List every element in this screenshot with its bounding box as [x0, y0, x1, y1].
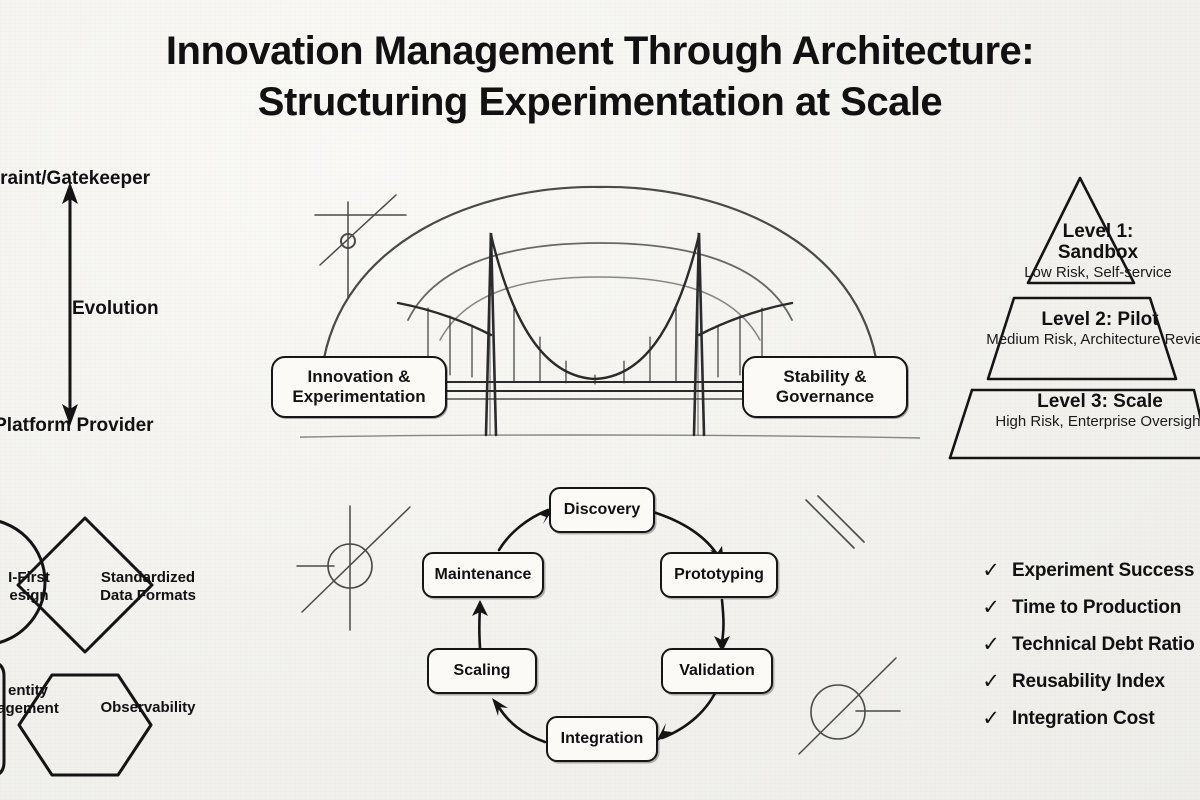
- evolution-axis: onstraint/Gatekeeper Evolution bler/Plat…: [0, 160, 220, 460]
- title-line-2: Structuring Experimentation at Scale: [0, 77, 1200, 128]
- cycle-node-validation-label: Validation: [679, 662, 755, 680]
- cycle-node-validation[interactable]: Validation: [661, 648, 773, 694]
- pyramid-level-2-title: Level 2: Pilot: [985, 310, 1200, 331]
- crosshair-circle-icon: [292, 482, 422, 632]
- diagram-canvas: Innovation Management Through Architectu…: [0, 0, 1200, 800]
- decor-crosshair-mid-left: [292, 482, 422, 632]
- metrics-checklist: ✓ Experiment Success ✓ Time to Productio…: [982, 552, 1200, 737]
- bridge-label-stability-text: Stability & Governance: [776, 367, 874, 406]
- pyramid-level-1-title: Level 1: Sandbox: [1018, 222, 1178, 264]
- axis-label-middle: Evolution: [72, 298, 159, 320]
- cycle-node-maintenance-label: Maintenance: [435, 566, 532, 584]
- metric-item-4[interactable]: ✓ Integration Cost: [982, 700, 1200, 737]
- crosshair-circle-icon: [796, 656, 926, 796]
- metric-item-1-label: Time to Production: [1012, 597, 1181, 619]
- decor-double-slash: [792, 486, 902, 596]
- check-icon: ✓: [982, 560, 1000, 581]
- cycle-node-maintenance[interactable]: Maintenance: [422, 552, 544, 598]
- cycle-node-prototyping-label: Prototyping: [674, 566, 764, 584]
- cycle-node-integration-label: Integration: [561, 730, 644, 748]
- check-icon: ✓: [982, 597, 1000, 618]
- cycle-node-scaling-label: Scaling: [454, 662, 511, 680]
- bridge-label-stability[interactable]: Stability & Governance: [742, 356, 908, 418]
- cycle-node-prototyping[interactable]: Prototyping: [660, 552, 778, 598]
- capability-shape-data-formats-label: Standardized Data Formats: [100, 569, 196, 603]
- metric-item-2[interactable]: ✓ Technical Debt Ratio: [982, 626, 1200, 663]
- axis-label-bottom: bler/Platform Provider: [0, 415, 154, 437]
- metric-item-4-label: Integration Cost: [1012, 708, 1154, 730]
- cycle-node-scaling[interactable]: Scaling: [427, 648, 537, 694]
- check-icon: ✓: [982, 634, 1000, 655]
- metric-item-1[interactable]: ✓ Time to Production: [982, 589, 1200, 626]
- bridge-label-innovation-text: Innovation & Experimentation: [292, 367, 425, 406]
- metric-item-3-label: Reusability Index: [1012, 671, 1165, 693]
- pyramid-level-2-subtitle: Medium Risk, Architecture Review: [985, 331, 1200, 348]
- capability-shape-api-first-label: I-First esign: [8, 569, 50, 603]
- axis-label-top: onstraint/Gatekeeper: [0, 168, 150, 190]
- metric-item-0-label: Experiment Success: [1012, 560, 1194, 582]
- capability-shape-observability-label: Observability: [100, 699, 195, 716]
- metric-item-0[interactable]: ✓ Experiment Success: [982, 552, 1200, 589]
- bridge-label-innovation[interactable]: Innovation & Experimentation: [271, 356, 447, 418]
- capability-shapes-icon: [0, 500, 230, 790]
- check-icon: ✓: [982, 671, 1000, 692]
- cycle-node-discovery[interactable]: Discovery: [549, 487, 655, 533]
- double-slash-icon: [792, 486, 902, 596]
- capability-shapes: [0, 500, 230, 790]
- capability-shape-identity-management-label: entity agement: [0, 682, 59, 716]
- decor-crosshair-bottom-right: [796, 656, 926, 796]
- pyramid-level-3-title: Level 3: Scale: [985, 392, 1200, 413]
- cycle-node-discovery-label: Discovery: [564, 501, 641, 519]
- check-icon: ✓: [982, 708, 1000, 729]
- pyramid-level-2[interactable]: Level 2: Pilot Medium Risk, Architecture…: [985, 310, 1200, 348]
- title-line-1: Innovation Management Through Architectu…: [0, 26, 1200, 77]
- pyramid-level-3[interactable]: Level 3: Scale High Risk, Enterprise Ove…: [985, 392, 1200, 430]
- metric-item-3[interactable]: ✓ Reusability Index: [982, 663, 1200, 700]
- metric-item-2-label: Technical Debt Ratio: [1012, 634, 1195, 656]
- pyramid-level-1[interactable]: Level 1: Sandbox Low Risk, Self-service: [1018, 222, 1178, 281]
- crosshair-circle-icon: [310, 180, 430, 340]
- pyramid-level-1-subtitle: Low Risk, Self-service: [1018, 264, 1178, 281]
- decor-crosshair-top-left: [310, 180, 430, 340]
- capability-shape-data-formats[interactable]: Standardized Data Formats: [77, 552, 219, 604]
- pyramid-level-3-subtitle: High Risk, Enterprise Oversight: [985, 413, 1200, 430]
- page-title: Innovation Management Through Architectu…: [0, 26, 1200, 128]
- cycle-node-integration[interactable]: Integration: [546, 716, 658, 762]
- capability-shape-observability[interactable]: Observability: [80, 682, 216, 717]
